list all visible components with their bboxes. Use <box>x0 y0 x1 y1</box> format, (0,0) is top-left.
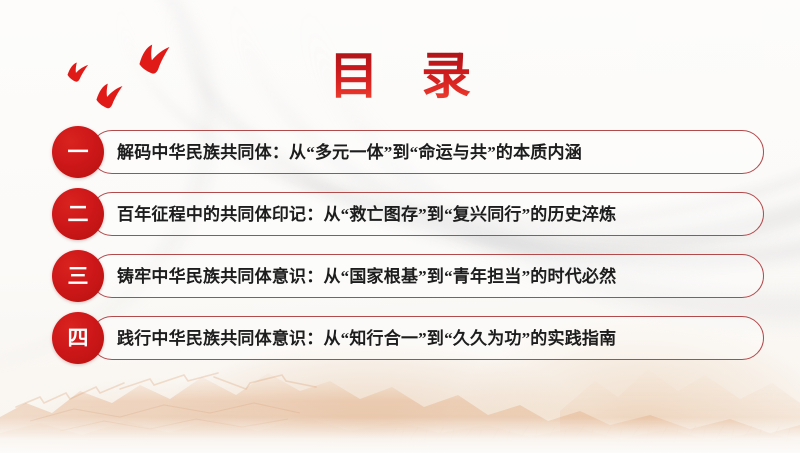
toc-number-badge-1: 一 <box>52 126 104 178</box>
bottom-fade-overlay <box>0 417 800 453</box>
toc-number-label-4: 四 <box>68 328 89 349</box>
page-title: 目 录 <box>314 48 487 104</box>
toc-item-text-3: 铸牢中华民族共同体意识：从“国家根基”到“青年担当”的时代必然 <box>117 268 616 285</box>
toc-number-badge-4: 四 <box>52 312 104 364</box>
toc-item-text-4: 践行中华民族共同体意识：从“知行合一”到“久久为功”的实践指南 <box>117 330 616 347</box>
toc-item-3[interactable]: 三 铸牢中华民族共同体意识：从“国家根基”到“青年担当”的时代必然 <box>52 250 764 302</box>
toc-item-4[interactable]: 四 践行中华民族共同体意识：从“知行合一”到“久久为功”的实践指南 <box>52 312 764 364</box>
toc-item-text-2: 百年征程中的共同体印记：从“救亡图存”到“复兴同行”的历史淬炼 <box>117 206 616 223</box>
page-title-container: 目 录 <box>0 48 800 104</box>
toc-pill-1[interactable]: 解码中华民族共同体：从“多元一体”到“命运与共”的本质内涵 <box>90 130 764 174</box>
toc-pill-4[interactable]: 践行中华民族共同体意识：从“知行合一”到“久久为功”的实践指南 <box>90 316 764 360</box>
toc-number-label-1: 一 <box>68 142 89 163</box>
toc-list: 一 解码中华民族共同体：从“多元一体”到“命运与共”的本质内涵 二 百年征程中的… <box>52 126 764 364</box>
toc-item-1[interactable]: 一 解码中华民族共同体：从“多元一体”到“命运与共”的本质内涵 <box>52 126 764 178</box>
toc-number-label-3: 三 <box>68 266 89 287</box>
toc-pill-2[interactable]: 百年征程中的共同体印记：从“救亡图存”到“复兴同行”的历史淬炼 <box>90 192 764 236</box>
slide-root: 目 录 一 解码中华民族共同体：从“多元一体”到“命运与共”的本质内涵 二 百年… <box>0 0 800 453</box>
toc-number-label-2: 二 <box>68 204 89 225</box>
toc-number-badge-3: 三 <box>52 250 104 302</box>
toc-pill-3[interactable]: 铸牢中华民族共同体意识：从“国家根基”到“青年担当”的时代必然 <box>90 254 764 298</box>
toc-item-2[interactable]: 二 百年征程中的共同体印记：从“救亡图存”到“复兴同行”的历史淬炼 <box>52 188 764 240</box>
toc-item-text-1: 解码中华民族共同体：从“多元一体”到“命运与共”的本质内涵 <box>117 144 582 161</box>
toc-number-badge-2: 二 <box>52 188 104 240</box>
